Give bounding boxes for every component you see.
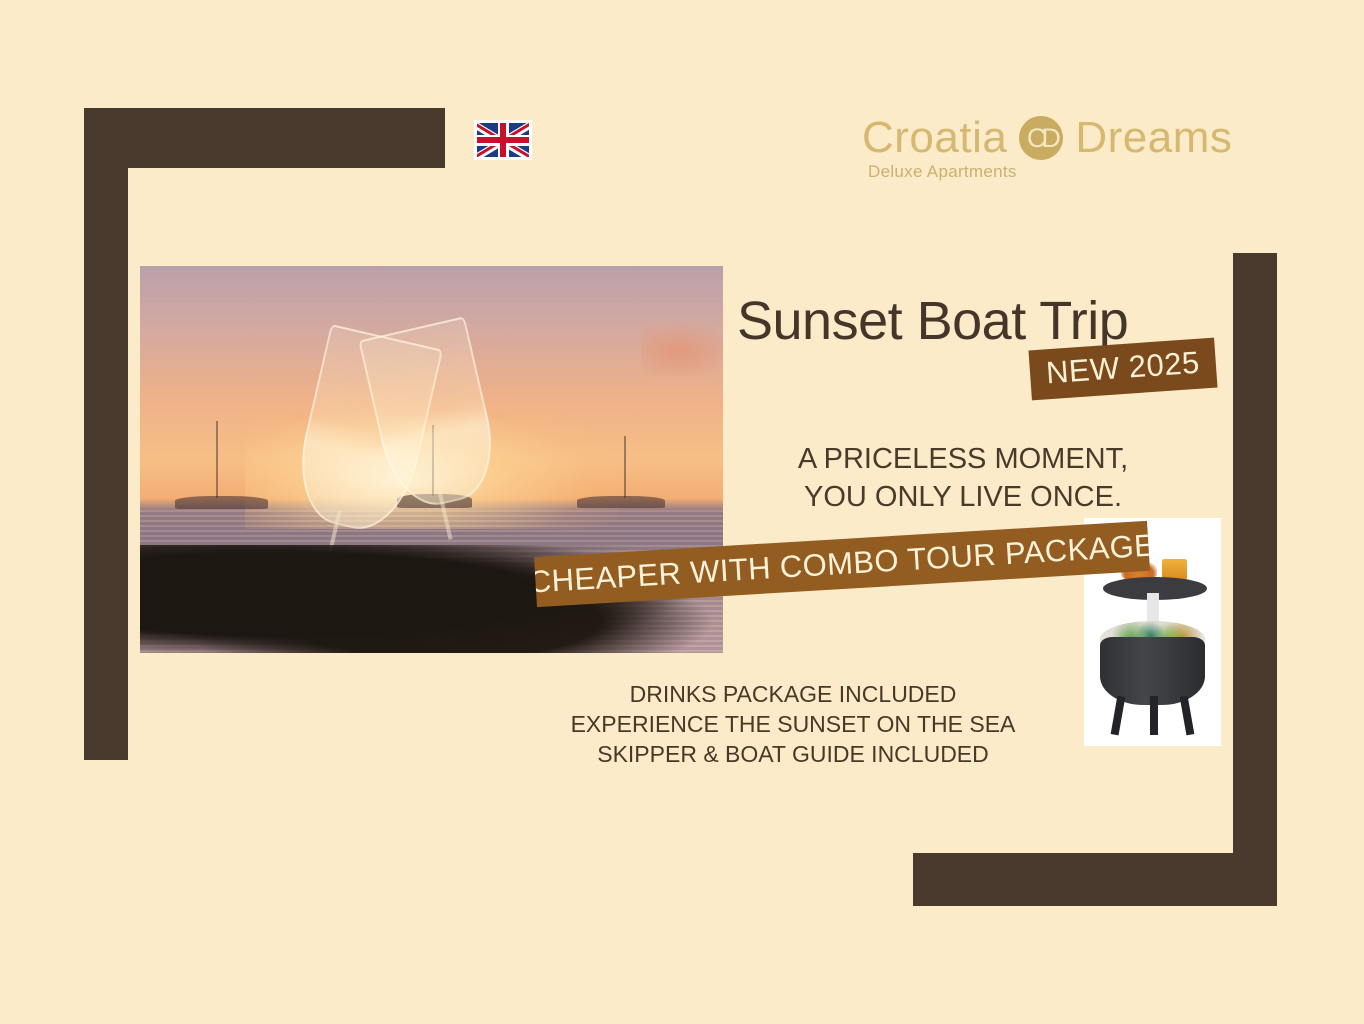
feature-item-3: SKIPPER & BOAT GUIDE INCLUDED: [553, 740, 1033, 770]
brand-name-second: Dreams: [1075, 116, 1232, 160]
cooler-leg-left: [1111, 695, 1126, 735]
cooler-body: [1100, 637, 1204, 705]
sailboat-mast-left: [216, 421, 218, 498]
cooler-leg-center: [1150, 696, 1158, 735]
tagline-line-2: YOU ONLY LIVE ONCE.: [723, 479, 1203, 517]
flag-cross-red-horizontal: [477, 137, 529, 143]
frame-top-left-vertical: [84, 108, 128, 760]
feature-item-1: DRINKS PACKAGE INCLUDED: [553, 680, 1033, 710]
sailboat-right: [577, 496, 664, 508]
promotional-flyer: Croatia CD Dreams Deluxe Apartments Suns…: [0, 0, 1364, 1024]
background-hand: [641, 320, 723, 382]
brand-name-first: Croatia: [862, 116, 1007, 160]
uk-flag-icon[interactable]: [474, 120, 532, 160]
brand-monogram-icon: CD: [1019, 116, 1063, 160]
sailboat-left: [175, 496, 268, 508]
uk-flag-glyph: [477, 123, 529, 157]
sailboat-mast-right: [624, 436, 626, 498]
frame-right-vertical: [1233, 253, 1277, 853]
frame-top-left-horizontal: [84, 108, 445, 168]
feature-item-2: EXPERIENCE THE SUNSET ON THE SEA: [553, 710, 1033, 740]
tagline: A PRICELESS MOMENT, YOU ONLY LIVE ONCE.: [723, 441, 1203, 516]
brand-subtitle: Deluxe Apartments: [868, 162, 1262, 182]
brand-wordmark: Croatia CD Dreams: [862, 116, 1262, 160]
brand-logo: Croatia CD Dreams Deluxe Apartments: [862, 116, 1262, 188]
page-title: Sunset Boat Trip: [737, 290, 1128, 352]
feature-list: DRINKS PACKAGE INCLUDED EXPERIENCE THE S…: [553, 680, 1033, 770]
cooler-leg-right: [1179, 695, 1194, 735]
frame-bottom-horizontal: [913, 853, 1277, 906]
tagline-line-1: A PRICELESS MOMENT,: [723, 441, 1203, 479]
